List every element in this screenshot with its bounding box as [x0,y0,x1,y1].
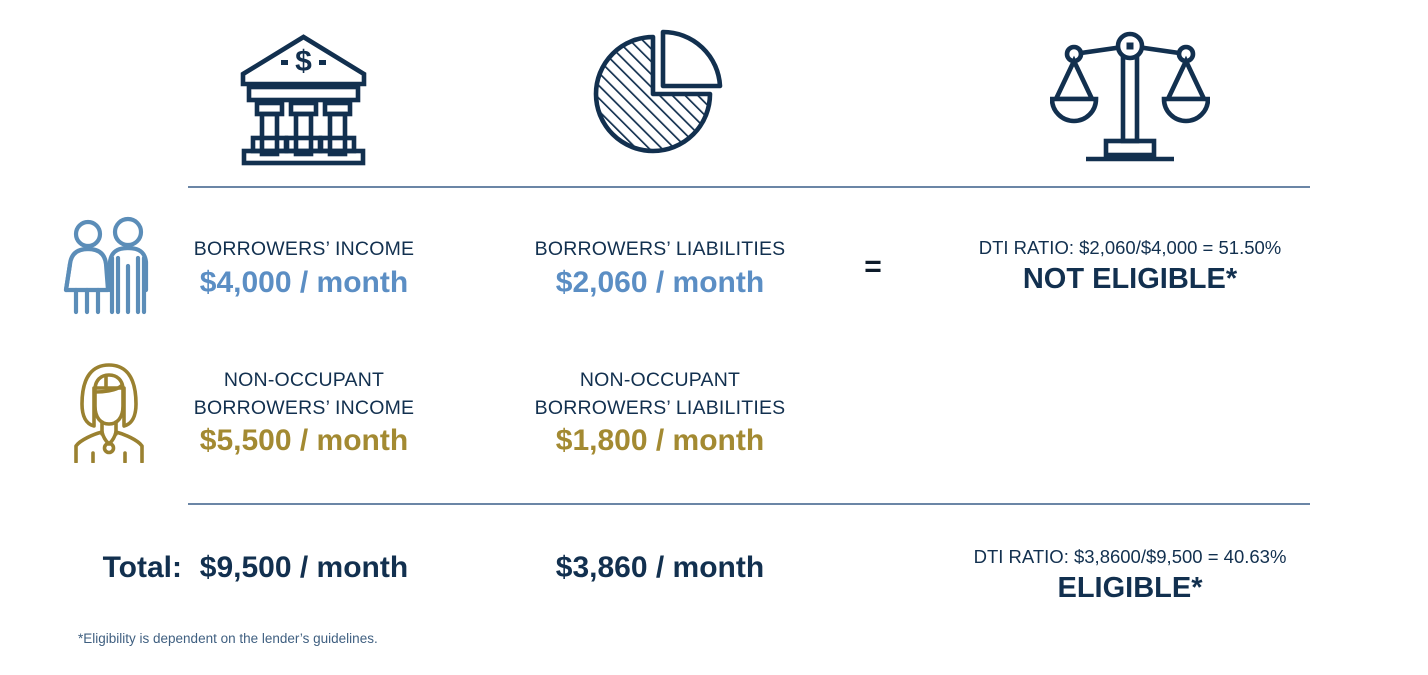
nonoccupant-income-value: $5,500 / month [186,422,422,460]
total-income-value: $9,500 / month [186,549,422,587]
divider-top [188,186,1310,188]
infographic-canvas: $ [0,0,1428,675]
balance-scales-icon-container [1015,22,1245,172]
borrowers-liabilities-cell: BORROWERS’ LIABILITIES $2,060 / month [500,236,820,301]
borrowers-income-cell: BORROWERS’ INCOME $4,000 / month [186,236,422,301]
nonoccupant-income-label-line1: NON-OCCUPANT [186,367,422,395]
balance-scales-icon [1050,27,1210,167]
borrowers-liabilities-value: $2,060 / month [500,264,820,302]
borrowers-income-value: $4,000 / month [186,264,422,302]
total-income-cell: $9,500 / month [186,549,422,587]
couple-icon [62,216,157,316]
bank-dash-right [319,60,326,65]
nonoccupant-income-cell: NON-OCCUPANT BORROWERS’ INCOME $5,500 / … [186,367,422,460]
nonoccupant-liabilities-label-line2: BORROWERS’ LIABILITIES [500,395,820,423]
equals-sign-container: = [838,252,908,282]
nonoccupant-liabilities-cell: NON-OCCUPANT BORROWERS’ LIABILITIES $1,8… [500,367,820,460]
dti-result-cell-borrowers: DTI RATIO: $2,060/$4,000 = 51.50% NOT EL… [930,236,1330,299]
total-dti-ratio-text: DTI RATIO: $3,8600/$9,500 = 40.63% [930,545,1330,569]
bank-dash-left [281,60,288,65]
pie-chart-icon [590,27,730,167]
total-eligibility-verdict: ELIGIBLE* [930,569,1330,608]
borrowers-liabilities-label: BORROWERS’ LIABILITIES [500,236,820,264]
icon-row: $ [0,22,1428,172]
total-liabilities-value: $3,860 / month [500,549,820,587]
nonoccupant-liabilities-label-line1: NON-OCCUPANT [500,367,820,395]
woman-portrait-icon-container [62,358,182,468]
pie-chart-icon-container [545,22,775,172]
borrowers-income-label: BORROWERS’ INCOME [186,236,422,264]
footnote: *Eligibility is dependent on the lender’… [78,631,378,646]
total-label: Total: [62,549,182,587]
nonoccupant-income-label-line2: BORROWERS’ INCOME [186,395,422,423]
total-liabilities-cell: $3,860 / month [500,549,820,587]
bank-icon-container: $ [188,22,418,172]
couple-icon-container [62,216,182,321]
bank-icon: $ [231,27,376,167]
divider-bottom [188,503,1310,505]
equals-sign: = [864,250,882,283]
eligibility-verdict: NOT ELIGIBLE* [930,260,1330,299]
bank-dollar-symbol: $ [295,45,312,78]
dti-ratio-text: DTI RATIO: $2,060/$4,000 = 51.50% [930,236,1330,260]
dti-result-cell-total: DTI RATIO: $3,8600/$9,500 = 40.63% ELIGI… [930,545,1330,608]
woman-portrait-icon [62,358,157,463]
nonoccupant-liabilities-value: $1,800 / month [500,422,820,460]
scales-hub-center [1127,43,1134,50]
